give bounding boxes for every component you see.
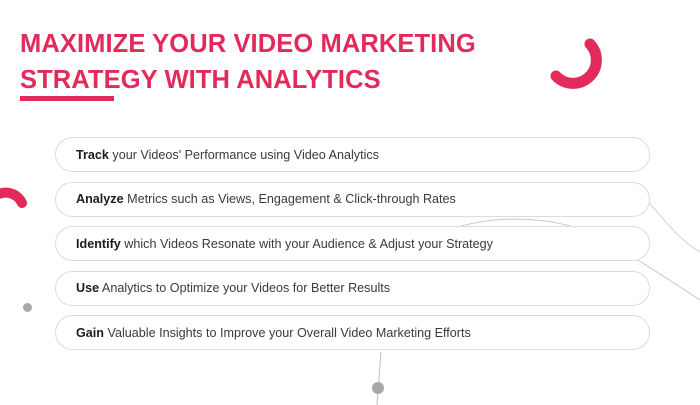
list-item-text: Analyze Metrics such as Views, Engagemen…: [76, 191, 456, 207]
page-title-line-1: MAXIMIZE YOUR VIDEO MARKETING: [20, 26, 540, 62]
list-item-text: Track your Videos' Performance using Vid…: [76, 147, 379, 163]
list-item-rest: Metrics such as Views, Engagement & Clic…: [124, 192, 456, 206]
list-item-rest: Analytics to Optimize your Videos for Be…: [99, 281, 390, 295]
vertical-line-icon: [377, 352, 381, 405]
list-item-rest: which Videos Resonate with your Audience…: [121, 237, 493, 251]
dot-icon: [23, 303, 32, 312]
benefit-list: Track your Videos' Performance using Vid…: [55, 137, 650, 350]
crescent-arc-left-icon: [0, 193, 22, 203]
title-underline-rule: [20, 96, 114, 101]
list-item-lead: Gain: [76, 326, 104, 340]
list-item-lead: Identify: [76, 237, 121, 251]
crescent-arc-top-right-icon: [556, 44, 596, 83]
dot-icon: [372, 382, 384, 394]
list-item-lead: Analyze: [76, 192, 124, 206]
page-title-line-2: STRATEGY WITH ANALYTICS: [20, 62, 540, 98]
page-title: MAXIMIZE YOUR VIDEO MARKETING STRATEGY W…: [20, 26, 540, 98]
list-item-text: Gain Valuable Insights to Improve your O…: [76, 325, 471, 341]
list-item-lead: Use: [76, 281, 99, 295]
list-item[interactable]: Track your Videos' Performance using Vid…: [55, 137, 650, 172]
list-item[interactable]: Analyze Metrics such as Views, Engagemen…: [55, 182, 650, 217]
list-item-rest: your Videos' Performance using Video Ana…: [109, 148, 379, 162]
list-item[interactable]: Identify which Videos Resonate with your…: [55, 226, 650, 261]
list-item-text: Use Analytics to Optimize your Videos fo…: [76, 280, 390, 296]
list-item-lead: Track: [76, 148, 109, 162]
list-item[interactable]: Use Analytics to Optimize your Videos fo…: [55, 271, 650, 306]
list-item-text: Identify which Videos Resonate with your…: [76, 236, 493, 252]
list-item[interactable]: Gain Valuable Insights to Improve your O…: [55, 315, 650, 350]
list-item-rest: Valuable Insights to Improve your Overal…: [104, 326, 471, 340]
infographic-canvas: MAXIMIZE YOUR VIDEO MARKETING STRATEGY W…: [0, 0, 700, 405]
